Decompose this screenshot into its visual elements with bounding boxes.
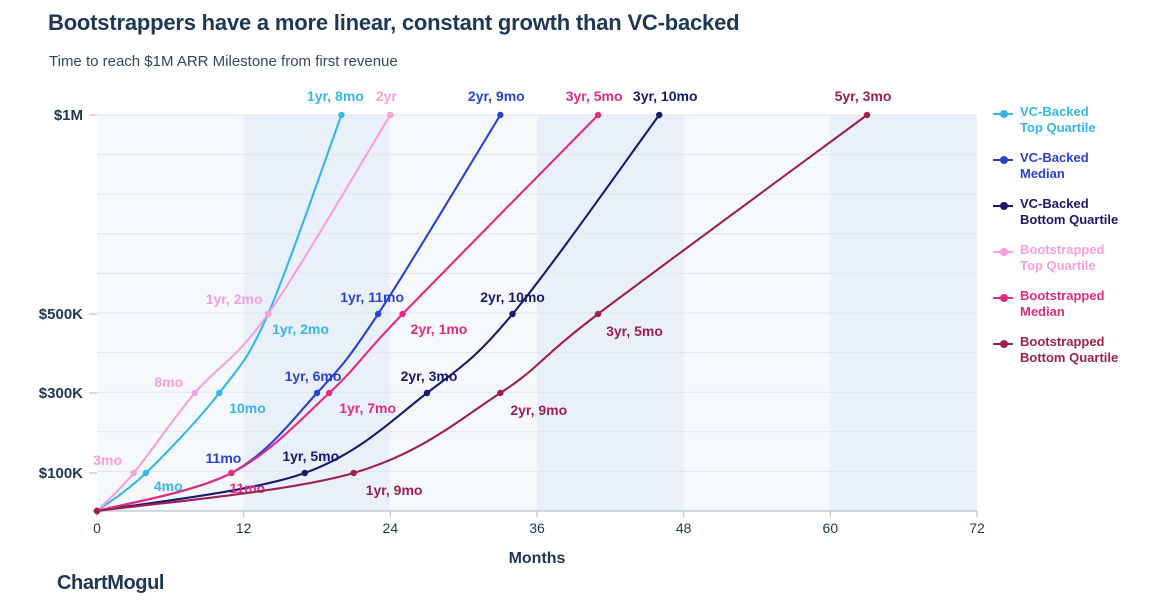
data-point — [338, 112, 344, 118]
chartmogul-logo: ChartMogul — [57, 572, 164, 595]
data-point-label: 1yr, 2mo — [206, 291, 263, 307]
data-point-label: 1yr, 9mo — [366, 482, 423, 498]
legend-item-label: Bootstrapped Top Quartile — [1020, 242, 1105, 274]
legend-item[interactable]: VC-Backed Median — [993, 150, 1158, 182]
x-tick-label: 48 — [676, 520, 692, 536]
data-point-label: 8mo — [154, 374, 183, 390]
data-point-label: 3yr, 5mo — [566, 88, 623, 104]
legend-marker-icon — [993, 243, 1013, 261]
y-tick-label: $300K — [39, 385, 83, 402]
data-point — [350, 470, 356, 476]
data-point-label: 11mo — [206, 450, 242, 466]
data-point-label: 2yr — [376, 88, 398, 104]
data-point — [130, 470, 136, 476]
legend-marker-icon — [993, 289, 1013, 307]
data-point — [497, 390, 503, 396]
data-point — [143, 470, 149, 476]
chart-legend: VC-Backed Top QuartileVC-Backed MedianVC… — [993, 104, 1158, 380]
x-tick-label: 12 — [236, 520, 252, 536]
data-point — [424, 390, 430, 396]
data-point — [864, 112, 870, 118]
data-point — [509, 311, 515, 317]
x-tick-label: 0 — [93, 520, 101, 536]
chart-page: Bootstrappers have a more linear, consta… — [0, 0, 1160, 612]
x-axis: 0122436486072 — [93, 511, 985, 536]
data-point — [216, 390, 222, 396]
y-tick-label: $1M — [54, 107, 83, 124]
x-axis-title: Months — [509, 550, 566, 567]
data-point — [375, 311, 381, 317]
y-axis: $100K$300K$500K$1M — [39, 107, 97, 482]
data-point-label: 5yr, 3mo — [835, 88, 892, 104]
data-point — [314, 390, 320, 396]
chart-plot-area: 0122436486072Months$100K$300K$500K$1M4mo… — [0, 0, 1160, 612]
data-point-label: 1yr, 6mo — [285, 368, 342, 384]
data-point-label: 3mo — [93, 452, 122, 468]
data-point-label: 1yr, 8mo — [307, 88, 364, 104]
legend-item-label: VC-Backed Bottom Quartile — [1020, 196, 1118, 228]
legend-marker-icon — [993, 335, 1013, 353]
data-point-label: 1yr, 11mo — [340, 289, 404, 305]
data-point — [265, 311, 271, 317]
data-point — [302, 470, 308, 476]
data-point-label: 2yr, 10mo — [480, 289, 545, 305]
x-tick-label: 24 — [383, 520, 399, 536]
data-point-label: 1yr, 5mo — [282, 448, 339, 464]
data-point-label: 10mo — [229, 400, 266, 416]
legend-item[interactable]: VC-Backed Bottom Quartile — [993, 196, 1158, 228]
legend-item-label: VC-Backed Top Quartile — [1020, 104, 1096, 136]
data-point-label: 3yr, 5mo — [606, 323, 663, 339]
data-point-label: 1yr, 2mo — [272, 321, 329, 337]
data-point-label: 2yr, 9mo — [510, 402, 567, 418]
data-point-label: 1yr, 7mo — [339, 400, 396, 416]
data-point — [656, 112, 662, 118]
legend-item[interactable]: Bootstrapped Median — [993, 288, 1158, 320]
data-point — [399, 311, 405, 317]
data-point — [595, 112, 601, 118]
data-point — [94, 508, 100, 514]
line-chart-svg: 0122436486072Months$100K$300K$500K$1M4mo… — [0, 0, 1160, 612]
legend-marker-icon — [993, 197, 1013, 215]
x-tick-label: 60 — [823, 520, 839, 536]
data-point — [387, 112, 393, 118]
data-point — [497, 112, 503, 118]
data-point — [228, 470, 234, 476]
data-point-label: 2yr, 1mo — [411, 321, 468, 337]
x-tick-label: 36 — [529, 520, 545, 536]
legend-item[interactable]: Bootstrapped Bottom Quartile — [993, 334, 1158, 366]
legend-item-label: Bootstrapped Median — [1020, 288, 1105, 320]
data-point-label: 2yr, 9mo — [468, 88, 525, 104]
legend-item[interactable]: VC-Backed Top Quartile — [993, 104, 1158, 136]
data-point-label: 3yr, 10mo — [633, 88, 698, 104]
y-tick-label: $500K — [39, 306, 83, 323]
legend-item-label: VC-Backed Median — [1020, 150, 1089, 182]
data-point-label: 2yr, 3mo — [401, 368, 458, 384]
x-tick-label: 72 — [969, 520, 985, 536]
legend-item-label: Bootstrapped Bottom Quartile — [1020, 334, 1118, 366]
data-point — [595, 311, 601, 317]
data-point — [192, 390, 198, 396]
legend-marker-icon — [993, 151, 1013, 169]
legend-item[interactable]: Bootstrapped Top Quartile — [993, 242, 1158, 274]
data-point — [326, 390, 332, 396]
legend-marker-icon — [993, 105, 1013, 123]
y-tick-label: $100K — [39, 465, 83, 482]
